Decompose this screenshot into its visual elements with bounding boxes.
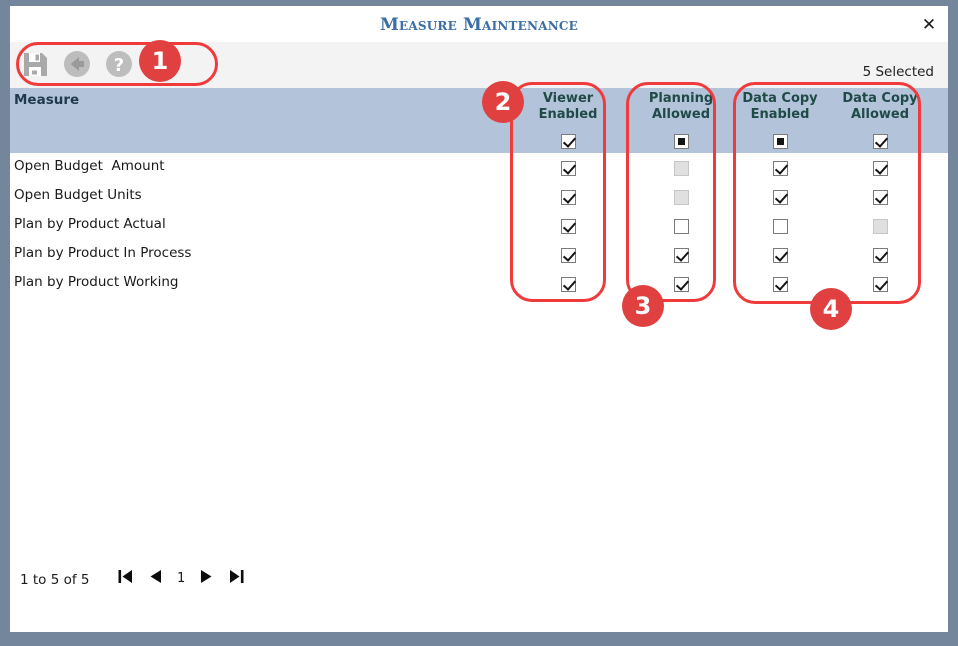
column-header-line1: Data Copy — [728, 91, 832, 107]
back-icon[interactable] — [60, 47, 94, 81]
row-checkbox-r4-c3[interactable] — [773, 248, 788, 263]
next-page-button[interactable] — [199, 568, 214, 589]
measure-name: Plan by Product Actual — [14, 216, 166, 232]
row-checkbox-r2-c2 — [674, 190, 689, 205]
cell-r5-c4 — [828, 274, 932, 293]
measure-maintenance-window: Measure Maintenance ✕ — [0, 0, 958, 646]
row-checkbox-r3-c1[interactable] — [561, 219, 576, 234]
header-checkbox-cell-3 — [728, 131, 832, 150]
previous-page-button[interactable] — [148, 568, 163, 589]
row-checkbox-r2-c3[interactable] — [773, 190, 788, 205]
cell-r3-c3 — [728, 216, 832, 235]
cell-r4-c3 — [728, 245, 832, 264]
row-checkbox-r5-c2[interactable] — [674, 277, 689, 292]
cell-r5-c3 — [728, 274, 832, 293]
row-checkbox-r4-c2[interactable] — [674, 248, 689, 263]
header-checkbox-cell-2 — [629, 131, 733, 150]
column-header-line2: Enabled — [516, 107, 620, 123]
row-checkbox-r5-c1[interactable] — [561, 277, 576, 292]
column-header-4[interactable]: Data CopyAllowed — [828, 91, 932, 123]
measure-name: Open Budget Amount — [14, 158, 165, 174]
row-checkbox-r1-c4[interactable] — [873, 161, 888, 176]
column-header-measure[interactable]: Measure — [14, 92, 79, 108]
last-page-button[interactable] — [228, 568, 245, 589]
save-icon[interactable] — [18, 47, 52, 81]
column-header-line2: Enabled — [728, 107, 832, 123]
row-checkbox-r4-c1[interactable] — [561, 248, 576, 263]
pagination-controls: 1 — [117, 568, 245, 589]
cell-r3-c1 — [516, 216, 620, 235]
header-checkbox-3[interactable] — [773, 134, 788, 149]
header-checkbox-cell-1 — [516, 131, 620, 150]
table-row[interactable]: Plan by Product Working — [10, 269, 948, 298]
row-checkbox-r3-c3[interactable] — [773, 219, 788, 234]
row-checkbox-r1-c3[interactable] — [773, 161, 788, 176]
measure-name: Plan by Product Working — [14, 274, 178, 290]
column-header-3[interactable]: Data CopyEnabled — [728, 91, 832, 123]
cell-r1-c4 — [828, 158, 932, 177]
table-row[interactable]: Open Budget Units — [10, 182, 948, 211]
toolbar: ? 5 Selected — [10, 42, 948, 88]
column-header-line1: Data Copy — [828, 91, 932, 107]
cell-r4-c2 — [629, 245, 733, 264]
first-page-button[interactable] — [117, 568, 134, 589]
grid-footer: 1 to 5 of 5 1 — [10, 562, 948, 600]
cell-r1-c1 — [516, 158, 620, 177]
cell-r1-c3 — [728, 158, 832, 177]
current-page-number: 1 — [177, 571, 185, 586]
cell-r3-c4 — [828, 216, 932, 235]
column-header-1[interactable]: ViewerEnabled — [516, 91, 620, 123]
cell-r3-c2 — [629, 216, 733, 235]
help-icon[interactable]: ? — [102, 47, 136, 81]
selected-count-label: 5 Selected — [863, 64, 934, 80]
cell-r2-c1 — [516, 187, 620, 206]
row-checkbox-r2-c1[interactable] — [561, 190, 576, 205]
table-row[interactable]: Open Budget Amount — [10, 153, 948, 182]
row-checkbox-r5-c4[interactable] — [873, 277, 888, 292]
cell-r2-c4 — [828, 187, 932, 206]
header-checkbox-2[interactable] — [674, 134, 689, 149]
header-checkbox-cell-4 — [828, 131, 932, 150]
column-header-2[interactable]: PlanningAllowed — [629, 91, 733, 123]
row-checkbox-r2-c4[interactable] — [873, 190, 888, 205]
column-header-line1: Planning — [629, 91, 733, 107]
cell-r5-c2 — [629, 274, 733, 293]
window-body: Measure Maintenance ✕ — [10, 6, 948, 632]
row-checkbox-r5-c3[interactable] — [773, 277, 788, 292]
row-checkbox-r4-c4[interactable] — [873, 248, 888, 263]
title-bar: Measure Maintenance ✕ — [10, 6, 948, 42]
row-checkbox-r3-c2[interactable] — [674, 219, 689, 234]
grid-header: Measure ViewerEnabledPlanningAllowedData… — [10, 88, 948, 153]
cell-r5-c1 — [516, 274, 620, 293]
cell-r2-c2 — [629, 187, 733, 206]
header-checkbox-1[interactable] — [561, 134, 576, 149]
column-header-line2: Allowed — [629, 107, 733, 123]
toolbar-icons: ? — [18, 47, 136, 81]
table-row[interactable]: Plan by Product Actual — [10, 211, 948, 240]
row-checkbox-r1-c2 — [674, 161, 689, 176]
row-checkbox-r3-c4 — [873, 219, 888, 234]
measure-grid: Measure ViewerEnabledPlanningAllowedData… — [10, 88, 948, 600]
page-title: Measure Maintenance — [10, 15, 948, 35]
pagination-status: 1 to 5 of 5 — [20, 572, 90, 588]
measure-name: Plan by Product In Process — [14, 245, 191, 261]
cell-r2-c3 — [728, 187, 832, 206]
grid-rows: Open Budget AmountOpen Budget UnitsPlan … — [10, 153, 948, 298]
column-header-line2: Allowed — [828, 107, 932, 123]
table-row[interactable]: Plan by Product In Process — [10, 240, 948, 269]
row-checkbox-r1-c1[interactable] — [561, 161, 576, 176]
svg-text:?: ? — [114, 55, 124, 76]
cell-r4-c1 — [516, 245, 620, 264]
measure-name: Open Budget Units — [14, 187, 142, 203]
column-header-line1: Viewer — [516, 91, 620, 107]
cell-r4-c4 — [828, 245, 932, 264]
cell-r1-c2 — [629, 158, 733, 177]
close-icon[interactable]: ✕ — [918, 14, 940, 36]
header-checkbox-4[interactable] — [873, 134, 888, 149]
